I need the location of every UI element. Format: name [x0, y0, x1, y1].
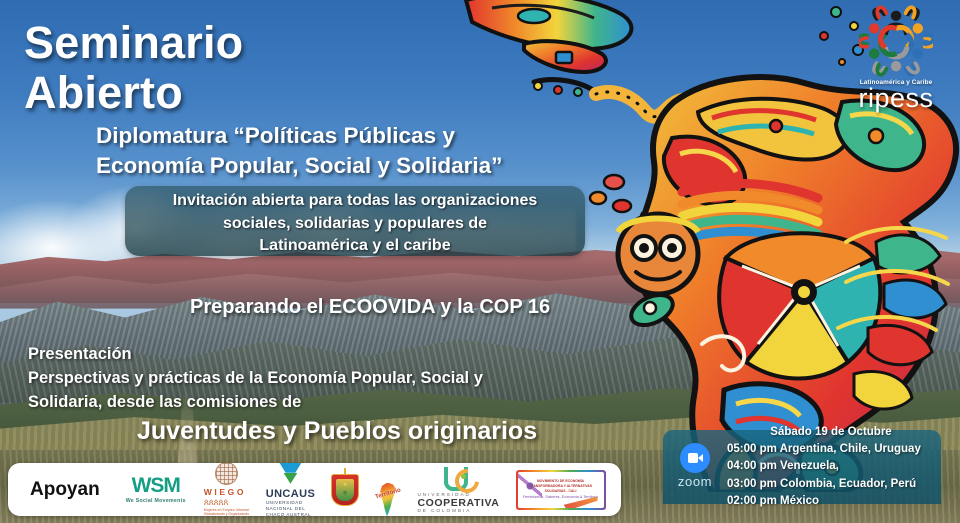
- wiego-tagline: Mujeres en Empleo Informal: Globalizando…: [204, 508, 250, 516]
- rainbow-border-frame: MOVIMIENTO DE ECONOMÍA TRANSFORMADORA Y …: [516, 470, 606, 510]
- ucoop-mark-icon: [444, 465, 472, 489]
- burst-icon: [518, 472, 542, 498]
- schedule-time-2: 04:00 pm Venezuela,: [727, 458, 935, 475]
- wiego-wordmark: WIEGO: [204, 488, 250, 497]
- ucoop-line-bottom: DE COLOMBIA: [417, 509, 499, 514]
- schedule-date: Sábado 19 de Octubre: [727, 424, 935, 441]
- presentation-text: Presentación Perspectivas y prácticas de…: [28, 343, 568, 415]
- poster-canvas: Seminario Abierto Diplomatura “Políticas…: [0, 0, 960, 523]
- zoom-wordmark: zoom: [663, 474, 727, 489]
- logo-universidad-cooperativa: UNIVERSIDAD COOPERATIVA DE COLOMBIA: [409, 465, 507, 514]
- logo-uncaus: UNCAUS UNIVERSIDAD NACIONAL DEL CHACO AU…: [258, 463, 323, 516]
- logo-shield-university: [323, 474, 367, 506]
- zoom-camera-icon: [680, 443, 710, 473]
- uncaus-tagline: UNIVERSIDAD NACIONAL DEL CHACO AUSTRAL: [266, 500, 315, 516]
- wiego-figures-icon: ጰጰጰጰጰ: [204, 498, 250, 507]
- schedule-time-1: 05:00 pm Argentina, Chile, Uruguay: [727, 441, 935, 458]
- zoom-logo: zoom: [663, 443, 727, 489]
- diploma-subtitle: Diplomatura “Políticas Públicas y Econom…: [96, 121, 502, 181]
- ripess-wordmark: ripess: [844, 85, 948, 112]
- logo-wsm: WSM We Social Movements: [116, 475, 196, 504]
- wsm-tagline: We Social Movements: [126, 498, 186, 504]
- schedule-panel: zoom Sábado 19 de Octubre 05:00 pm Argen…: [663, 430, 941, 504]
- schedule-time-3: 03:00 pm Colombia, Ecuador, Perú: [727, 476, 935, 493]
- wsm-wordmark: WSM: [132, 475, 180, 496]
- schedule-times: Sábado 19 de Octubre 05:00 pm Argentina,…: [727, 424, 941, 510]
- sponsors-label: Apoyan: [8, 479, 116, 501]
- invitation-text: Invitación abierta para todas las organi…: [125, 190, 585, 258]
- ripess-logo: Latinoamérica y Caribe ripess: [844, 4, 948, 112]
- preparing-text: Preparando el ECOOVIDA y la COP 16: [190, 296, 620, 319]
- logo-wiego: WIEGO ጰጰጰጰጰ Mujeres en Empleo Informal: …: [196, 463, 258, 516]
- sponsor-bar: Apoyan WSM We Social Movements WIEGO ጰጰጰ…: [8, 463, 621, 516]
- schedule-time-4: 02:00 pm México: [727, 493, 935, 510]
- page-title: Seminario Abierto: [24, 18, 243, 119]
- wiego-globe-icon: [215, 463, 238, 485]
- university-shield-icon: [331, 474, 359, 506]
- uncaus-wordmark: UNCAUS: [266, 489, 315, 500]
- logo-movimiento-rainbow: MOVIMIENTO DE ECONOMÍA TRANSFORMADORA Y …: [508, 470, 614, 510]
- commissions-highlight: Juventudes y Pueblos originarios: [137, 417, 537, 446]
- uncaus-mark-icon: [279, 463, 301, 485]
- logo-territorio: Territorio: [367, 483, 409, 497]
- ripess-circle-of-people-icon: [859, 4, 933, 78]
